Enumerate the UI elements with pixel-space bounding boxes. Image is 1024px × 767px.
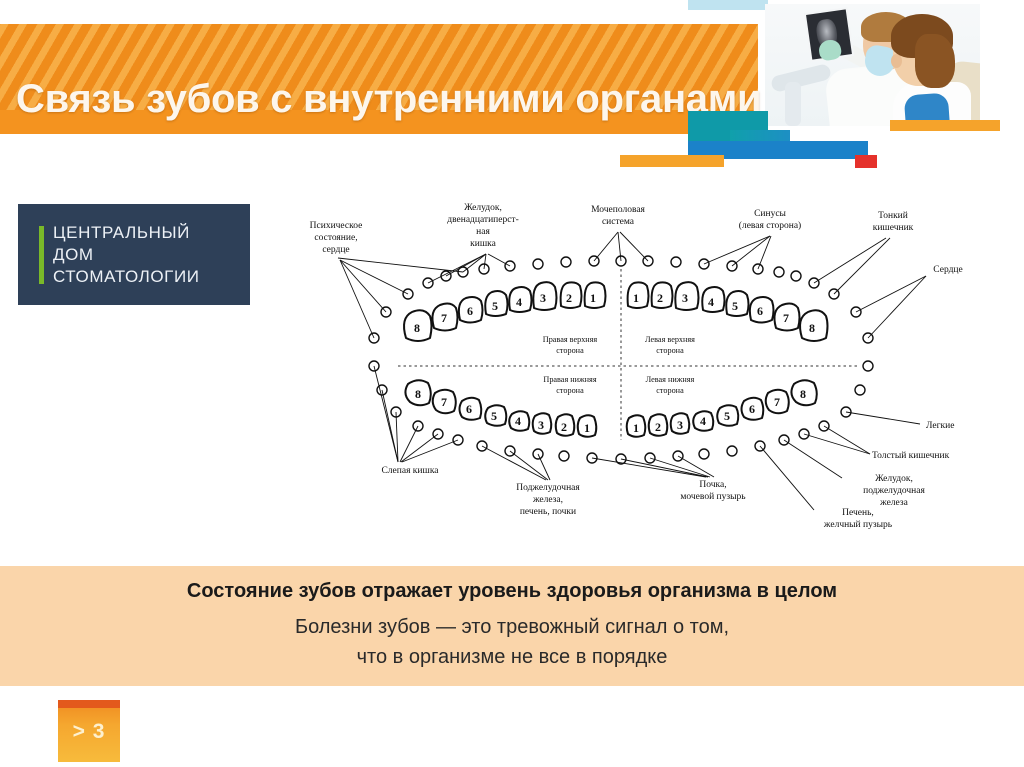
svg-text:печень, почки: печень, почки [520, 507, 576, 517]
svg-text:Сердце: Сердце [933, 265, 962, 275]
diagram-label-pancreas-liver-kidneys: Поджелудочная железа, печень, почки [516, 483, 580, 517]
svg-text:Слепая кишка: Слепая кишка [381, 466, 439, 476]
diagram-label-large-intestine: Толстый кишечник [872, 450, 950, 461]
svg-text:Поджелудочная: Поджелудочная [516, 483, 580, 493]
upper-teeth-arch: 8 7 6 5 4 3 2 1 1 2 3 4 5 6 7 8 [404, 282, 828, 341]
svg-text:Психическое: Психическое [310, 221, 363, 231]
svg-text:5: 5 [492, 299, 498, 313]
svg-text:кишка: кишка [470, 239, 496, 249]
svg-text:сторона: сторона [656, 386, 684, 395]
svg-text:мочевой пузырь: мочевой пузырь [680, 491, 746, 502]
photo-lamp-stem [785, 82, 801, 126]
summary-line-3: что в организме не все в порядке [0, 646, 1024, 669]
lower-teeth-arch: 8 7 6 5 4 3 2 1 1 2 3 4 5 6 7 8 [405, 380, 816, 437]
svg-text:2: 2 [655, 420, 661, 434]
svg-text:Желудок,: Желудок, [464, 203, 502, 213]
svg-text:4: 4 [708, 295, 714, 309]
decor-lightblue-bar [688, 0, 768, 10]
svg-text:1: 1 [633, 291, 639, 305]
svg-text:8: 8 [800, 387, 806, 401]
svg-text:Желудок,: Желудок, [875, 474, 913, 484]
svg-text:6: 6 [466, 402, 472, 416]
diagram-label-sinuses-left: Синусы (левая сторона) [739, 209, 801, 231]
svg-text:Мочеполовая: Мочеполовая [591, 205, 645, 215]
decor-orange-bar-right [890, 120, 1000, 131]
svg-text:4: 4 [516, 295, 522, 309]
svg-text:кишечник: кишечник [873, 223, 914, 233]
svg-text:поджелудочная: поджелудочная [863, 486, 925, 496]
svg-text:4: 4 [515, 414, 521, 428]
svg-text:Тонкий: Тонкий [878, 210, 908, 221]
svg-text:5: 5 [491, 409, 497, 423]
svg-text:Толстый кишечник: Толстый кишечник [872, 450, 950, 461]
svg-text:1: 1 [584, 421, 590, 435]
svg-text:6: 6 [757, 304, 763, 318]
svg-text:3: 3 [682, 291, 688, 305]
svg-text:Легкие: Легкие [926, 421, 954, 431]
badge-label: > 3 [58, 720, 120, 744]
summary-line-2: Болезни зубов — это тревожный сигнал о т… [0, 616, 1024, 639]
diagram-label-small-intestine: Тонкий кишечник [873, 210, 914, 233]
svg-text:3: 3 [677, 418, 683, 432]
clinic-logo[interactable]: ЦЕНТРАЛЬНЫЙ ДОМ СТОМАТОЛОГИИ [18, 204, 250, 305]
slide-header: Связь зубов с внутренними органами [0, 0, 1024, 170]
svg-text:2: 2 [561, 420, 567, 434]
svg-text:4: 4 [700, 414, 706, 428]
diagram-label-psyche: Психическое состояние, сердце [310, 221, 363, 255]
summary-headline: Состояние зубов отражает уровень здоровь… [0, 580, 1024, 603]
logo-line-2: ДОМ [53, 244, 243, 266]
decor-orange-bar-left [620, 155, 724, 167]
svg-text:Левая нижняя: Левая нижняя [646, 375, 695, 384]
svg-text:1: 1 [633, 421, 639, 435]
svg-text:железа,: железа, [532, 495, 563, 505]
svg-text:7: 7 [783, 311, 789, 325]
photo-patient-hair-side [915, 34, 955, 88]
svg-text:Печень,: Печень, [842, 508, 874, 518]
svg-text:Левая верхняя: Левая верхняя [645, 335, 695, 344]
svg-text:7: 7 [774, 395, 780, 409]
summary-panel: Состояние зубов отражает уровень здоровь… [0, 566, 1024, 686]
diagram-label-urogenital: Мочеполовая система [591, 205, 645, 227]
logo-accent-bar [39, 226, 44, 284]
diagram-label-stomach-pancreas: Желудок, поджелудочная железа [863, 474, 925, 508]
diagram-label-heart: Сердце [933, 265, 962, 275]
svg-text:сторона: сторона [556, 346, 584, 355]
svg-text:система: система [602, 217, 635, 227]
svg-text:сердце: сердце [322, 245, 349, 255]
svg-text:2: 2 [566, 291, 572, 305]
lower-connector-dots [413, 421, 829, 464]
teeth-organ-diagram: Психическое состояние, сердце Желудок, д… [258, 190, 1024, 550]
svg-text:Правая верхняя: Правая верхняя [543, 335, 598, 344]
svg-text:2: 2 [657, 291, 663, 305]
svg-text:7: 7 [441, 311, 447, 325]
svg-text:6: 6 [749, 402, 755, 416]
svg-text:железа: железа [879, 498, 908, 508]
svg-text:8: 8 [414, 321, 420, 335]
svg-text:7: 7 [441, 395, 447, 409]
svg-text:5: 5 [724, 409, 730, 423]
svg-text:1: 1 [590, 291, 596, 305]
quadrant-upper-right: Правая верхняя сторона [543, 335, 598, 355]
svg-text:желчный пузырь: желчный пузырь [823, 519, 893, 530]
quadrant-upper-left: Левая верхняя сторона [645, 335, 695, 355]
logo-text: ЦЕНТРАЛЬНЫЙ ДОМ СТОМАТОЛОГИИ [53, 222, 243, 288]
decor-red-square [855, 155, 877, 168]
quadrant-lower-left: Левая нижняя сторона [646, 375, 695, 395]
svg-text:сторона: сторона [656, 346, 684, 355]
dentist-photo [765, 4, 980, 126]
diagram-label-lungs: Легкие [926, 421, 954, 431]
diagram-label-liver-gallbladder: Печень, желчный пузырь [823, 508, 893, 530]
diagram-label-caecum: Слепая кишка [381, 466, 439, 476]
svg-text:3: 3 [540, 291, 546, 305]
svg-text:Синусы: Синусы [754, 209, 786, 219]
logo-line-1: ЦЕНТРАЛЬНЫЙ [53, 222, 243, 244]
svg-text:8: 8 [809, 321, 815, 335]
svg-text:ная: ная [476, 227, 490, 237]
svg-text:5: 5 [732, 299, 738, 313]
svg-text:двенадцатиперст-: двенадцатиперст- [447, 215, 519, 225]
quadrant-lower-right: Правая нижняя сторона [543, 375, 596, 395]
svg-text:Правая нижняя: Правая нижняя [543, 375, 596, 384]
page-title: Связь зубов с внутренними органами [16, 69, 756, 131]
svg-text:сторона: сторона [556, 386, 584, 395]
logo-line-3: СТОМАТОЛОГИИ [53, 266, 243, 288]
diagram-label-stomach-duodenum: Желудок, двенадцатиперст- ная кишка [447, 203, 519, 249]
svg-text:6: 6 [467, 304, 473, 318]
page-number-badge[interactable]: > 3 [58, 700, 120, 762]
svg-text:Почка,: Почка, [699, 480, 726, 490]
svg-text:3: 3 [538, 418, 544, 432]
svg-text:состояние,: состояние, [314, 233, 357, 243]
svg-text:(левая сторона): (левая сторона) [739, 220, 801, 231]
svg-text:8: 8 [415, 387, 421, 401]
diagram-label-kidney-bladder: Почка, мочевой пузырь [680, 480, 746, 502]
badge-top-strip [58, 700, 120, 708]
